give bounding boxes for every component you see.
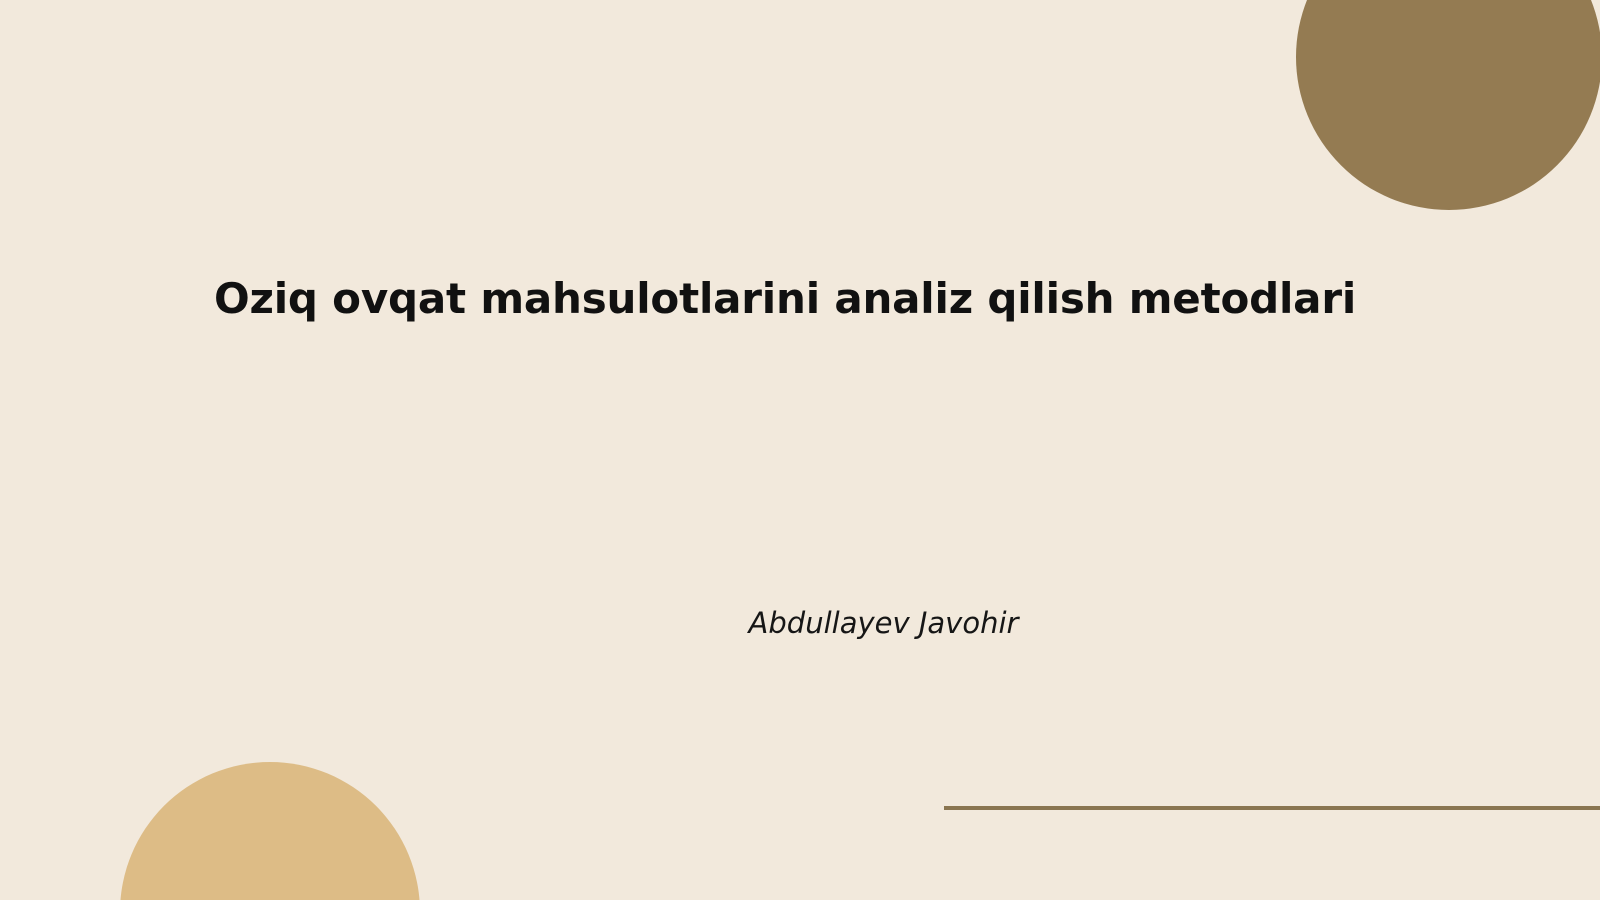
title-block: Oziq ovqat mahsulotlarini analiz qilish … xyxy=(0,274,1570,324)
decorative-circle-top-right-icon xyxy=(1296,0,1600,210)
decorative-horizontal-rule xyxy=(944,806,1600,810)
decorative-circle-bottom-left-icon xyxy=(120,762,420,900)
slide-title: Oziq ovqat mahsulotlarini analiz qilish … xyxy=(0,274,1570,324)
author-block: Abdullayev Javohir xyxy=(0,605,1600,643)
presentation-slide: Oziq ovqat mahsulotlarini analiz qilish … xyxy=(0,0,1600,900)
slide-author: Abdullayev Javohir xyxy=(0,605,1600,643)
